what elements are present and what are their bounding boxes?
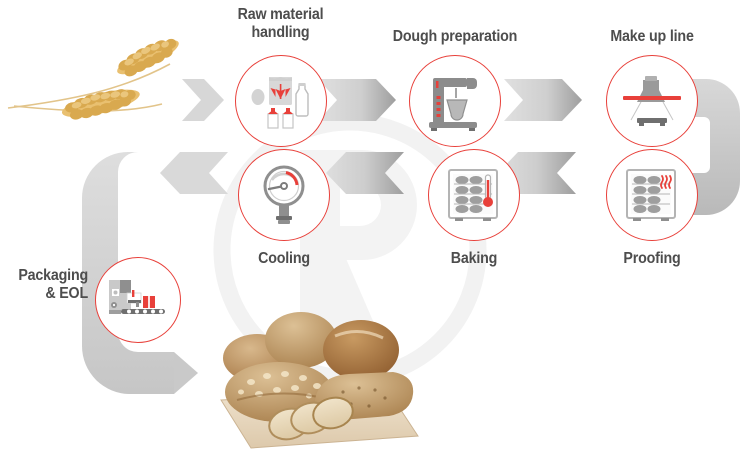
stage-label-baking: Baking: [419, 250, 529, 268]
oven-thermometer-icon: [443, 164, 505, 226]
red-cutting-bar: [623, 96, 681, 100]
stage-node-proofing[interactable]: [606, 149, 698, 241]
stage-node-packaging-eol[interactable]: [95, 257, 181, 343]
spiral-mixer-icon: [425, 70, 485, 132]
wheat-head-upper: [113, 32, 183, 81]
jar-right: [283, 108, 293, 128]
stage-label-make-up-line: Make up line: [578, 28, 725, 46]
proofer-cabinet-heat-icon: [621, 164, 683, 226]
arrow-baking-to-cooling: [326, 152, 404, 194]
process-flow-diagram: Raw material handling: [0, 0, 740, 459]
pressure-gauge-icon: [256, 164, 312, 226]
divider-moulder-icon: [619, 72, 685, 130]
arrow-dough-to-makeup: [504, 79, 582, 121]
packaging-conveyor-icon: [107, 276, 169, 324]
wheat-head-lower: [59, 83, 142, 124]
stage-node-baking[interactable]: [428, 149, 520, 241]
red-packages: [143, 296, 155, 308]
stage-node-cooling[interactable]: [238, 149, 330, 241]
milk-bottle: [296, 83, 308, 116]
stage-node-raw-material-handling[interactable]: [235, 55, 327, 147]
stage-label-raw-material-handling: Raw material handling: [218, 6, 342, 42]
stage-node-make-up-line[interactable]: [606, 55, 698, 147]
stage-label-packaging-eol: Packaging & EOL: [0, 267, 88, 303]
wheat-stalks-image: [2, 38, 202, 148]
flour-bag-egg-milk-icon: [249, 71, 313, 131]
stage-label-dough-preparation: Dough preparation: [379, 28, 532, 46]
arrow-cooling-to-left: [160, 152, 228, 194]
jar-left: [268, 108, 278, 128]
stage-label-proofing: Proofing: [597, 250, 707, 268]
stage-label-cooling: Cooling: [229, 250, 339, 268]
arrow-raw-material-to-dough: [318, 79, 396, 121]
stage-node-dough-preparation[interactable]: [409, 55, 501, 147]
assorted-bread-loaves-on-board-image: [193, 296, 428, 456]
